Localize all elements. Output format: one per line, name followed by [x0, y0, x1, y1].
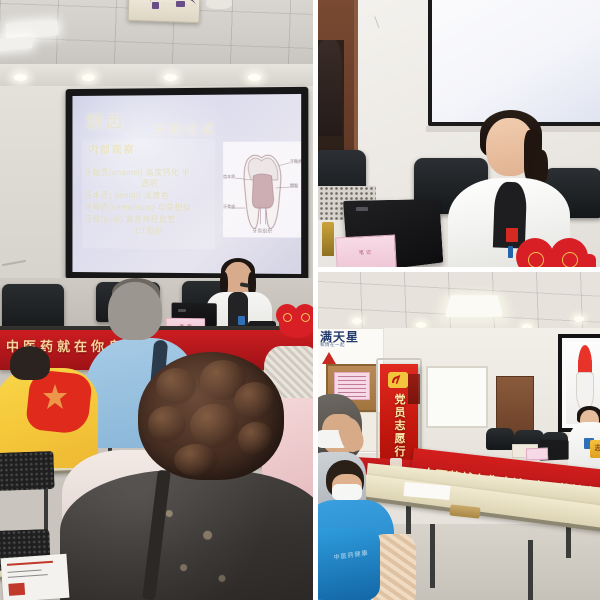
slide-line: 牙骨质(cementum) 与骨相似 [84, 202, 215, 213]
slide-section-heading: 内部观察 [88, 141, 135, 156]
downlight [14, 74, 27, 81]
smoke-detector [206, 0, 232, 9]
panel-lecture-hall: 龋齿 牙的组成 内部观察 牙釉质(enamel) 高度钙化 半 透明 牙本质( … [0, 0, 313, 600]
volunteer-badge-text: 志 [590, 440, 600, 458]
slide-title: 龋齿 [86, 107, 125, 132]
slide-subtitle: 牙的组成 [153, 119, 217, 138]
speaker-id-badge [238, 316, 245, 325]
tooth-label-dentin: 齿本质 [223, 174, 235, 180]
tooth-label-pulp: 髓腽 [290, 183, 298, 189]
slide-line: 透明 [84, 178, 215, 189]
red-star-icon [322, 352, 336, 364]
photo-collage: 龋齿 牙的组成 内部观察 牙釉质(enamel) 高度钙化 半 透明 牙本质( … [0, 0, 600, 600]
panel-hall-with-banners: 满天星 和情在一起 党建工作 党员志愿行 [318, 272, 600, 600]
desk-ornament [322, 222, 334, 256]
mobile-phone [450, 504, 481, 518]
background-person [318, 40, 342, 136]
table-leg [430, 524, 435, 588]
face-mask [332, 484, 362, 500]
red-double-heart-sign [276, 304, 313, 344]
doctor-pen [508, 246, 513, 258]
wall-display-subtitle: 和情在一起 [318, 342, 380, 348]
projector-connector [152, 2, 159, 9]
tooth-diagram: 牙釉质 髓腽 齿本质 牙骨质 牙周组织 [223, 142, 301, 238]
downlight [164, 74, 177, 81]
red-heart-decoration [516, 238, 600, 267]
notebook-label: 笔记 [337, 247, 395, 257]
ceiling-soffit [0, 64, 313, 88]
pink-notebook: 笔记 [335, 234, 397, 267]
volunteer-emblem-icon [40, 382, 70, 412]
cpc-emblem-icon [388, 372, 408, 388]
ceiling-panel-light [445, 295, 503, 317]
panel-doctor-at-laptop: 笔记 [318, 0, 600, 267]
office-chair [2, 284, 64, 330]
office-chair [486, 428, 514, 450]
laptop-logo [356, 207, 368, 211]
flag-text: 党员志愿行 [390, 394, 410, 459]
leaflet [1, 554, 70, 600]
slide-line: 牙髓(pulp) 富含神经血管 [84, 214, 215, 225]
volunteer-badge: 志 [590, 440, 600, 458]
table-leg [528, 540, 533, 600]
tooth-label-cementum: 牙骨质 [223, 204, 235, 210]
downlight [82, 74, 95, 81]
attendee-head [108, 282, 162, 340]
downlight [574, 316, 584, 322]
projection-screen [428, 0, 600, 126]
tooth-label-enamel: 牙釉质 [290, 159, 301, 165]
tooth-diagram-caption: 牙周组织 [223, 228, 301, 234]
wall-mark [2, 260, 26, 266]
attendee-curly-hair [138, 352, 284, 480]
tooth-cross-section-svg [223, 142, 301, 238]
projection-screen-frame: 龋齿 牙的组成 内部观察 牙釉质(enamel) 高度钙化 半 透明 牙本质( … [66, 87, 309, 281]
slide-line: CT组织 [84, 226, 215, 238]
whiteboard [426, 366, 488, 428]
volunteer-head [10, 346, 50, 380]
plastic-chair [0, 451, 55, 491]
tote-bag [318, 528, 380, 600]
pink-note [526, 448, 548, 461]
downlight [352, 318, 362, 324]
downlight [248, 74, 261, 81]
laptop-logo [178, 309, 186, 312]
slide-line: 牙釉质(enamel) 高度钙化 半 [84, 167, 215, 178]
slide-line: 牙本质( dentin) 淡黄色 [84, 190, 215, 201]
projection-screen: 龋齿 牙的组成 内部观察 牙釉质(enamel) 高度钙化 半 透明 牙本质( … [72, 94, 301, 274]
